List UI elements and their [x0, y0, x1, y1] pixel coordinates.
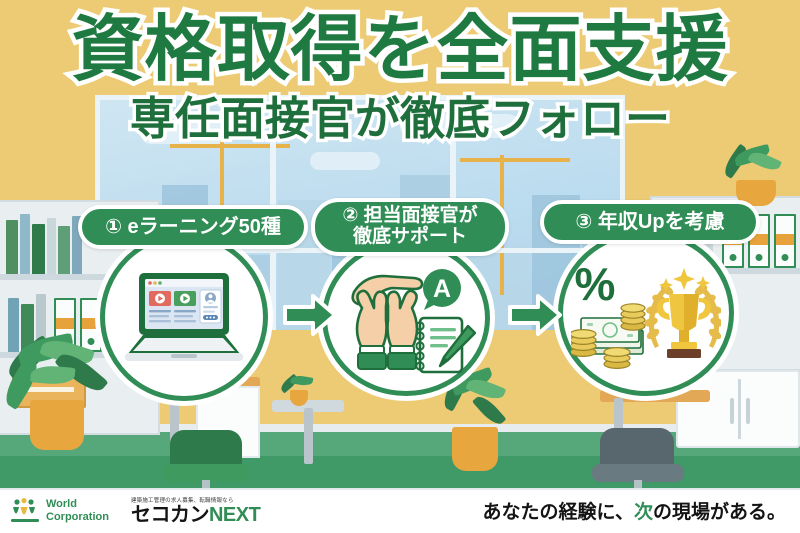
sekokan-name-jp: セコカン	[131, 504, 209, 526]
coin-stack	[604, 348, 630, 369]
arrow-step1-to-step2	[283, 292, 337, 338]
slogan-highlight: 次	[634, 502, 653, 523]
page-subtitle: 専任面接官が徹底フォロー	[0, 96, 800, 141]
book	[6, 220, 18, 274]
page-title: 資格取得を全面支援	[0, 14, 800, 86]
slogan-after: の現場がある。	[653, 502, 786, 523]
sekokan-next-logo[interactable]: 建築施工管理の求人募集、転職情報なら セコカンNEXT	[131, 496, 260, 526]
step-1-circle	[100, 233, 268, 401]
sekokan-tagline: 建築施工管理の求人募集、転職情報なら	[131, 496, 260, 504]
step-2-label: ② 担当面接官が 徹底サポート	[311, 198, 509, 256]
supporting-hands-icon: A	[336, 260, 476, 376]
trophy-icon	[657, 294, 711, 358]
step-card-3: %	[540, 200, 760, 395]
world-corporation-logo[interactable]: World Corporation	[10, 498, 109, 524]
book	[47, 218, 56, 274]
coin-stack	[571, 330, 596, 357]
sekokan-name-en: NEXT	[209, 504, 260, 526]
table-leg	[304, 408, 313, 464]
binder	[774, 214, 796, 268]
salary-up-icon: %	[571, 254, 721, 372]
step-3-circle: %	[558, 230, 734, 396]
book	[32, 224, 45, 274]
step-card-1: ① eラーニング50種	[78, 205, 308, 400]
book	[20, 214, 30, 274]
arrow-step2-to-step3	[508, 292, 562, 338]
bubble-letter-a: A	[433, 275, 451, 303]
world-corporation-line2: Corporation	[46, 511, 109, 524]
world-corporation-mark-icon	[10, 498, 40, 524]
cloud-shape	[310, 152, 380, 170]
headline-block: 資格取得を全面支援 専任面接官が徹底フォロー	[0, 14, 800, 141]
coin-stack	[621, 304, 645, 330]
promo-banner: 資格取得を全面支援 専任面接官が徹底フォロー	[0, 0, 800, 533]
laptop-elearning-icon	[119, 267, 249, 367]
percent-symbol: %	[575, 258, 616, 310]
crane-icon	[460, 158, 570, 162]
footer-bar: World Corporation 建築施工管理の求人募集、転職情報なら セコカ…	[0, 488, 800, 533]
footer-divider	[0, 488, 800, 490]
slogan-before: あなたの経験に、	[483, 502, 634, 523]
footer-slogan: あなたの経験に、次の現場がある。	[483, 497, 786, 524]
step-1-label: ① eラーニング50種	[78, 205, 308, 249]
step-3-label: ③ 年収Upを考慮	[540, 200, 760, 244]
step-2-circle: A	[322, 240, 490, 396]
book	[58, 226, 70, 274]
world-corporation-line1: World	[46, 498, 109, 511]
